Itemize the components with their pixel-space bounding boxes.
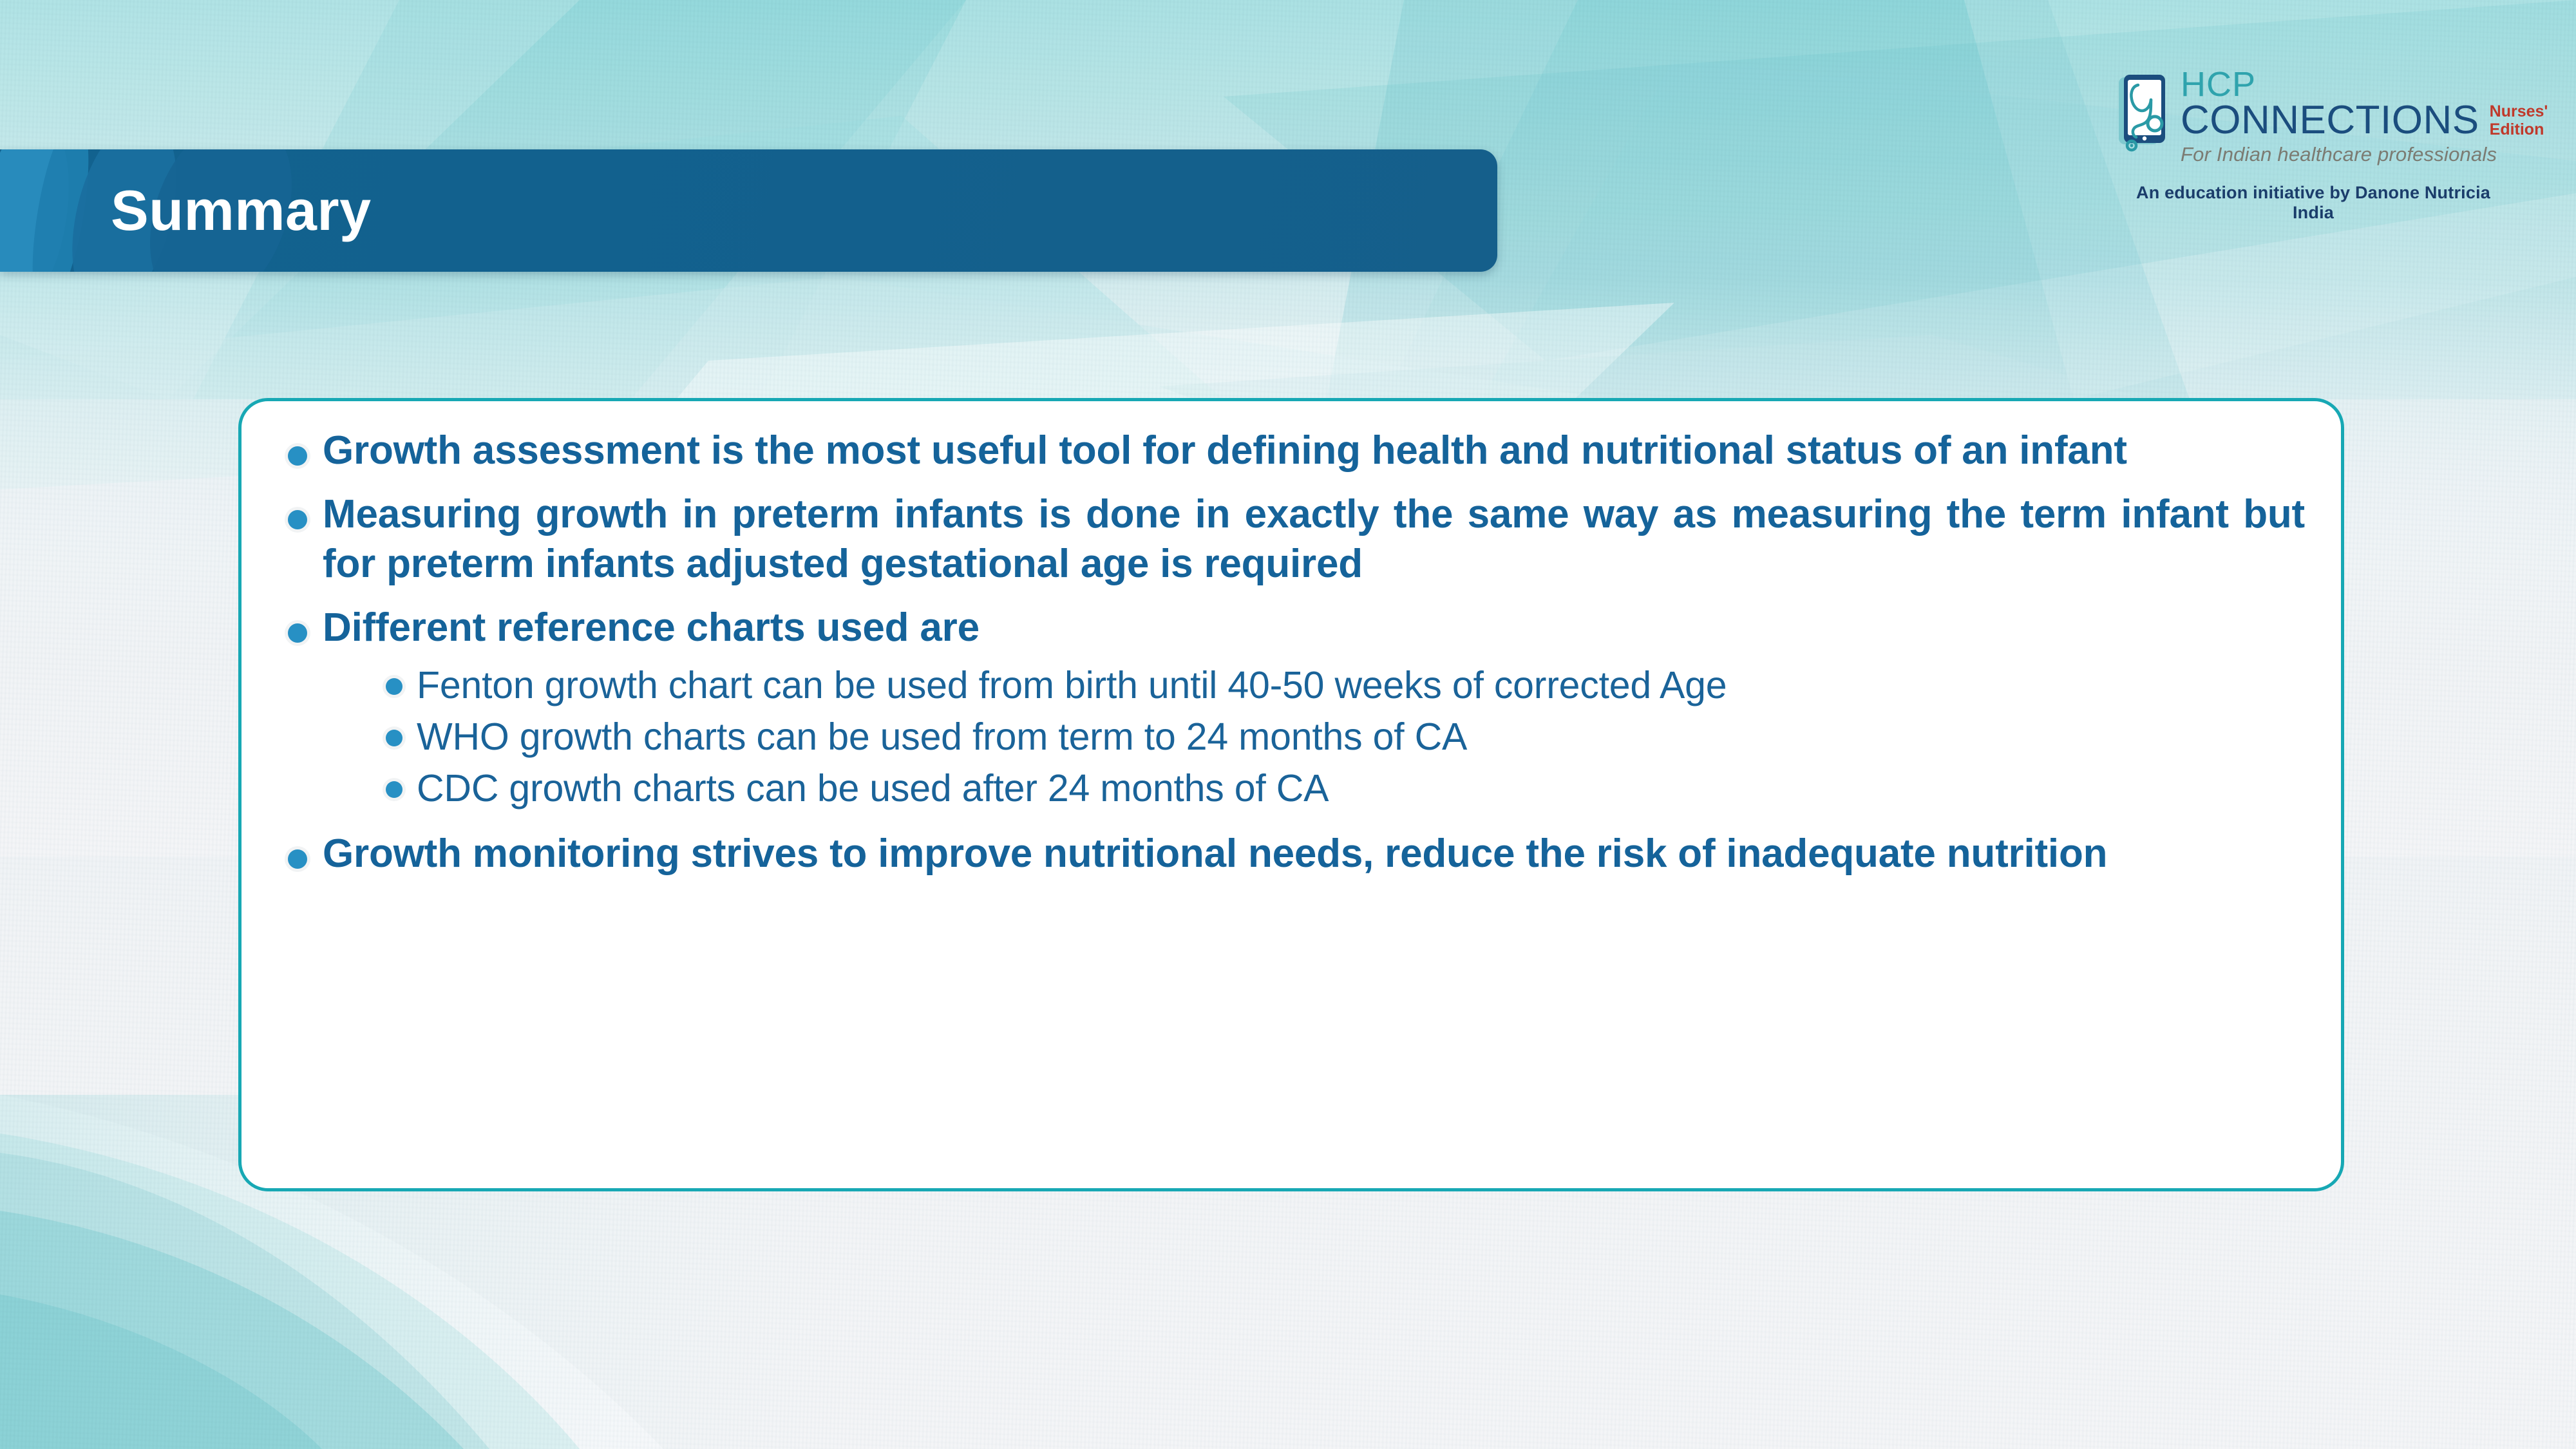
- bullet-dot-icon: [288, 446, 307, 466]
- logo-tagline: For Indian healthcare professionals: [2181, 143, 2503, 166]
- bullet-text: Fenton growth chart can be used from bir…: [417, 661, 2305, 709]
- bullet-dot-icon: [288, 623, 307, 643]
- slide-title-bar: Summary: [0, 149, 1497, 272]
- phone-stethoscope-icon: [2117, 73, 2175, 155]
- bullet-dot-icon: [288, 510, 307, 529]
- bullet-text: WHO growth charts can be used from term …: [417, 713, 2305, 761]
- bullet-dot-icon: [288, 849, 307, 869]
- bullet-list: Growth assessment is the most useful too…: [288, 426, 2305, 878]
- list-item: WHO growth charts can be used from term …: [386, 713, 2305, 761]
- logo-initiative-line: An education initiative by Danone Nutric…: [2123, 183, 2504, 223]
- page-title: Summary: [111, 178, 372, 243]
- bullet-dot-icon: [386, 730, 402, 746]
- list-item: Different reference charts used are: [288, 603, 2305, 652]
- logo-hcp-text: HCP: [2181, 68, 2503, 100]
- logo-edition-line2: Edition: [2490, 121, 2548, 138]
- logo-edition-block: Nurses' Edition: [2490, 103, 2548, 139]
- logo-wordmark: HCP CONNECTIONS Nurses' Edition For Indi…: [2181, 68, 2503, 166]
- hcp-connections-logo: HCP CONNECTIONS Nurses' Edition For Indi…: [2117, 68, 2504, 210]
- bullet-text: Measuring growth in preterm infants is d…: [323, 489, 2305, 589]
- list-item: Measuring growth in preterm infants is d…: [288, 489, 2305, 589]
- list-item: CDC growth charts can be used after 24 m…: [386, 764, 2305, 812]
- bullet-dot-icon: [386, 678, 402, 695]
- bullet-dot-icon: [386, 781, 402, 798]
- bullet-text: Different reference charts used are: [323, 603, 2305, 652]
- logo-connections-text: CONNECTIONS: [2181, 102, 2479, 139]
- content-card: Growth assessment is the most useful too…: [238, 398, 2344, 1191]
- logo-connections-row: CONNECTIONS Nurses' Edition: [2181, 102, 2503, 139]
- bullet-text: Growth monitoring strives to improve nut…: [323, 829, 2305, 878]
- bullet-text: Growth assessment is the most useful too…: [323, 426, 2305, 475]
- logo-edition-line1: Nurses': [2490, 103, 2548, 120]
- list-item: Growth assessment is the most useful too…: [288, 426, 2305, 475]
- bullet-text: CDC growth charts can be used after 24 m…: [417, 764, 2305, 812]
- list-item: Growth monitoring strives to improve nut…: [288, 829, 2305, 878]
- list-item: Fenton growth chart can be used from bir…: [386, 661, 2305, 709]
- slide: Summary HCP CONNECTIONS Nurses' Edition: [0, 0, 2576, 1449]
